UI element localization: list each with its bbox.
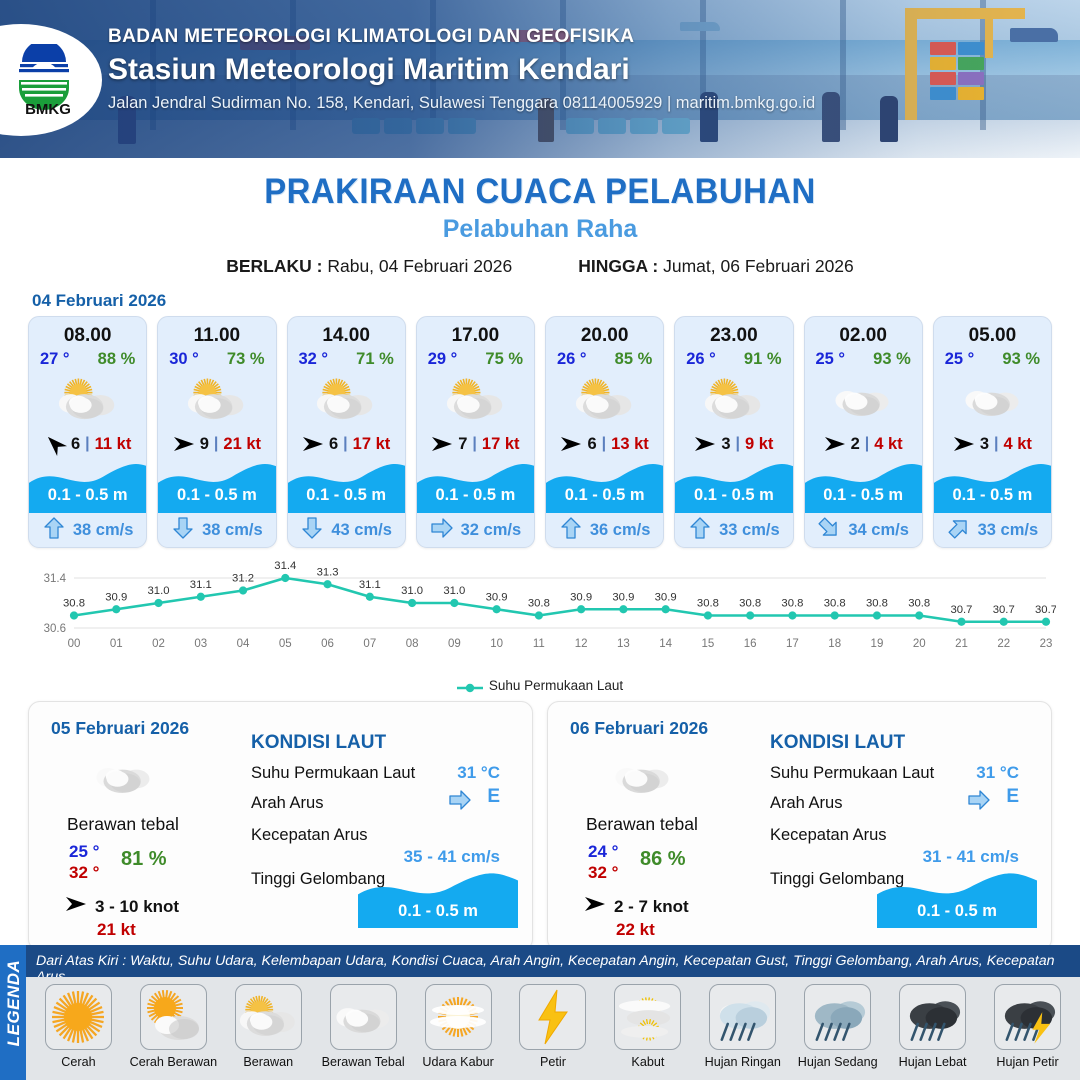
current-direction-icon xyxy=(967,788,991,817)
sea-condition-title: KONDISI LAUT xyxy=(770,732,905,754)
daily-wave-value: 0.1 - 0.5 m xyxy=(358,902,518,921)
title-block: PRAKIRAAN CUACA PELABUHAN Pelabuhan Raha… xyxy=(0,172,1080,277)
svg-text:30.8: 30.8 xyxy=(63,598,85,610)
sun-behind-cloud-icon xyxy=(235,984,302,1050)
legend-item-label: Berawan Tebal xyxy=(322,1055,405,1069)
daily-wave-value: 0.1 - 0.5 m xyxy=(877,902,1037,921)
moderate-rain-icon xyxy=(804,984,871,1050)
wave-band: 0.1 - 0.5 m xyxy=(358,870,518,928)
svg-text:18: 18 xyxy=(828,638,841,650)
current-speed: 32 cm/s xyxy=(461,521,522,540)
wind-direction-icon xyxy=(431,434,453,454)
wind-separator: | xyxy=(214,435,218,453)
svg-text:16: 16 xyxy=(744,638,757,650)
svg-text:30.9: 30.9 xyxy=(105,591,127,603)
legend-label: Suhu Permukaan Laut xyxy=(489,678,623,693)
legend-item-label: Cerah xyxy=(61,1055,95,1069)
legend-item-label: Hujan Lebat xyxy=(899,1055,967,1069)
current-direction-icon xyxy=(300,516,324,545)
wave-height: 0.1 - 0.5 m xyxy=(29,486,146,505)
current-direction-icon xyxy=(430,516,454,545)
wind-direction-icon xyxy=(824,434,846,454)
daily-humidity: 86 % xyxy=(640,848,686,871)
svg-text:19: 19 xyxy=(871,638,884,650)
legend-item: Udara Kabur xyxy=(412,984,505,1069)
daily-gust: 22 kt xyxy=(616,920,655,940)
svg-text:31.4: 31.4 xyxy=(274,560,296,572)
hourly-card: 08.00 27 ° 88 % 6 | 11 kt xyxy=(28,316,147,548)
current-direction-icon xyxy=(947,516,971,545)
daily-humidity: 81 % xyxy=(121,848,167,871)
svg-text:17: 17 xyxy=(786,638,799,650)
legend-item: Petir xyxy=(507,984,600,1069)
hourly-date-label: 04 Februari 2026 xyxy=(32,291,1080,311)
svg-text:14: 14 xyxy=(659,638,672,650)
lightning-icon xyxy=(519,984,586,1050)
wave-band: 0.1 - 0.5 m xyxy=(288,461,405,513)
sst-label: Suhu Permukaan Laut xyxy=(770,764,934,783)
hourly-card: 02.00 25 ° 93 % 2 | 4 kt 0.1 - 0.5 m xyxy=(804,316,923,548)
bmkg-logo-icon: BMKG xyxy=(14,44,82,116)
svg-text:30.9: 30.9 xyxy=(612,591,634,603)
wave-height: 0.1 - 0.5 m xyxy=(546,486,663,505)
card-humidity: 93 % xyxy=(873,350,911,369)
legend-item: Cerah xyxy=(32,984,125,1069)
daily-wind: 2 - 7 knot xyxy=(584,894,689,919)
current-direction-icon xyxy=(171,516,195,545)
current-direction-icon xyxy=(559,516,583,545)
page-title: PRAKIRAAN CUACA PELABUHAN xyxy=(32,172,1047,212)
legend-item-label: Petir xyxy=(540,1055,566,1069)
wind-direction-icon xyxy=(694,434,716,454)
svg-text:09: 09 xyxy=(448,638,461,650)
svg-text:04: 04 xyxy=(237,638,250,650)
svg-text:31.0: 31.0 xyxy=(443,585,465,597)
wind-direction-icon xyxy=(584,894,606,919)
bmkg-logo: BMKG xyxy=(8,34,88,126)
sea-condition-title: KONDISI LAUT xyxy=(251,732,386,754)
wave-height: 0.1 - 0.5 m xyxy=(805,486,922,505)
card-time: 14.00 xyxy=(288,317,405,347)
wave-height: 0.1 - 0.5 m xyxy=(417,486,534,505)
sst-value: 31 °C xyxy=(457,763,500,783)
hourly-card: 11.00 30 ° 73 % 9 | 21 kt xyxy=(157,316,276,548)
current-direction-value: E xyxy=(487,786,500,808)
sun-icon xyxy=(45,984,112,1050)
daily-wind: 3 - 10 knot xyxy=(65,894,179,919)
svg-text:01: 01 xyxy=(110,638,123,650)
validity-row: BERLAKU : Rabu, 04 Februari 2026 HINGGA … xyxy=(0,256,1080,277)
legend-item-label: Cerah Berawan xyxy=(130,1055,218,1069)
card-humidity: 91 % xyxy=(744,350,782,369)
wind-separator: | xyxy=(994,435,998,453)
card-humidity: 88 % xyxy=(98,350,136,369)
svg-text:31.0: 31.0 xyxy=(401,585,423,597)
wave-band: 0.1 - 0.5 m xyxy=(934,461,1051,513)
legend-item: Hujan Ringan xyxy=(696,984,789,1069)
gust-speed: 21 kt xyxy=(223,435,261,454)
svg-text:31.0: 31.0 xyxy=(148,585,170,597)
sun-behind-cloud-icon xyxy=(546,371,663,429)
svg-text:31.4: 31.4 xyxy=(44,573,67,585)
daily-temp-min: 24 ° xyxy=(588,842,618,862)
current-speed: 34 cm/s xyxy=(848,521,909,540)
card-humidity: 75 % xyxy=(485,350,523,369)
legend-item: Hujan Sedang xyxy=(791,984,884,1069)
legend-item-list: Cerah Cerah Berawan Berawan xyxy=(26,977,1080,1080)
legend-sidebar: LEGENDA xyxy=(0,945,26,1080)
wind-speed: 3 xyxy=(980,435,989,454)
svg-text:07: 07 xyxy=(363,638,376,650)
wind-speed: 9 xyxy=(200,435,209,454)
card-temperature: 30 ° xyxy=(169,350,199,369)
wind-direction-icon xyxy=(560,434,582,454)
svg-text:BMKG: BMKG xyxy=(25,101,71,116)
svg-text:22: 22 xyxy=(997,638,1010,650)
svg-text:30.9: 30.9 xyxy=(486,591,508,603)
wind-speed: 6 xyxy=(71,435,80,454)
card-temperature: 25 ° xyxy=(816,350,846,369)
daily-condition: Berawan tebal xyxy=(586,814,698,835)
card-humidity: 93 % xyxy=(1002,350,1040,369)
card-humidity: 85 % xyxy=(615,350,653,369)
wind-direction-icon xyxy=(173,434,195,454)
svg-text:30.8: 30.8 xyxy=(739,598,761,610)
gust-speed: 4 kt xyxy=(1003,435,1031,454)
sun-behind-cloud-icon xyxy=(417,371,534,429)
port-name: Pelabuhan Raha xyxy=(0,215,1080,244)
svg-text:13: 13 xyxy=(617,638,630,650)
card-temperature: 29 ° xyxy=(428,350,458,369)
card-temperature: 25 ° xyxy=(945,350,975,369)
station-address: Jalan Jendral Sudirman No. 158, Kendari,… xyxy=(108,94,815,113)
daily-gust: 21 kt xyxy=(97,920,136,940)
daily-panel: 05 Februari 2026 Berawan tebal 25 ° 32 °… xyxy=(28,701,533,951)
hourly-card: 14.00 32 ° 71 % 6 | 17 kt xyxy=(287,316,406,548)
svg-text:08: 08 xyxy=(406,638,419,650)
current-speed: 36 cm/s xyxy=(590,521,651,540)
legend-item: Cerah Berawan xyxy=(127,984,220,1069)
wind-direction-icon xyxy=(65,894,87,919)
card-humidity: 73 % xyxy=(227,350,265,369)
legend-item: Hujan Petir xyxy=(981,984,1074,1069)
card-time: 17.00 xyxy=(417,317,534,347)
svg-text:31.1: 31.1 xyxy=(359,579,381,591)
sun-behind-small-cloud-icon xyxy=(140,984,207,1050)
page-header: BMKG BADAN METEOROLOGI KLIMATOLOGI DAN G… xyxy=(0,0,1080,158)
wind-speed: 6 xyxy=(587,435,596,454)
card-temperature: 32 ° xyxy=(299,350,329,369)
svg-text:12: 12 xyxy=(575,638,588,650)
cloud-icon xyxy=(805,371,922,429)
legend-item: Kabut xyxy=(601,984,694,1069)
fog-icon xyxy=(614,984,681,1050)
sst-chart: 31.4 30.630.80030.90131.00231.10331.2043… xyxy=(24,556,1056,676)
berlaku: BERLAKU : Rabu, 04 Februari 2026 xyxy=(226,256,512,277)
wind-direction-icon xyxy=(44,434,66,454)
hourly-card: 20.00 26 ° 85 % 6 | 13 kt xyxy=(545,316,664,548)
svg-text:30.6: 30.6 xyxy=(44,623,66,635)
hingga-value: Jumat, 06 Februari 2026 xyxy=(663,256,854,276)
wave-band: 0.1 - 0.5 m xyxy=(417,461,534,513)
wind-direction-icon xyxy=(953,434,975,454)
svg-text:20: 20 xyxy=(913,638,926,650)
svg-text:30.8: 30.8 xyxy=(781,598,803,610)
cloud-icon xyxy=(330,984,397,1050)
svg-text:00: 00 xyxy=(68,638,81,650)
wave-band: 0.1 - 0.5 m xyxy=(158,461,275,513)
card-humidity: 71 % xyxy=(356,350,394,369)
hourly-card: 05.00 25 ° 93 % 3 | 4 kt 0.1 - 0.5 m xyxy=(933,316,1052,548)
wind-direction-icon xyxy=(302,434,324,454)
current-direction-icon xyxy=(817,516,841,545)
svg-text:02: 02 xyxy=(152,638,165,650)
agency-name: BADAN METEOROLOGI KLIMATOLOGI DAN GEOFIS… xyxy=(108,26,815,48)
card-time: 08.00 xyxy=(29,317,146,347)
legend-section: LEGENDA Dari Atas Kiri : Waktu, Suhu Uda… xyxy=(0,945,1080,1080)
legend-item-label: Hujan Ringan xyxy=(705,1055,781,1069)
gust-speed: 11 kt xyxy=(95,435,132,454)
gust-speed: 9 kt xyxy=(745,435,773,454)
card-temperature: 27 ° xyxy=(40,350,70,369)
svg-text:15: 15 xyxy=(702,638,715,650)
daily-temp-max: 32 ° xyxy=(69,863,99,883)
daily-panel: 06 Februari 2026 Berawan tebal 24 ° 32 °… xyxy=(547,701,1052,951)
cloud-icon xyxy=(610,754,676,804)
sun-behind-cloud-icon xyxy=(288,371,405,429)
card-temperature: 26 ° xyxy=(557,350,587,369)
hourly-card: 17.00 29 ° 75 % 7 | 17 kt xyxy=(416,316,535,548)
station-name: Stasiun Meteorologi Maritim Kendari xyxy=(108,53,815,87)
svg-text:10: 10 xyxy=(490,638,503,650)
current-speed: 43 cm/s xyxy=(331,521,392,540)
wind-speed: 2 xyxy=(851,435,860,454)
berlaku-value: Rabu, 04 Februari 2026 xyxy=(327,256,512,276)
gust-speed: 17 kt xyxy=(353,435,391,454)
wind-separator: | xyxy=(472,435,476,453)
svg-text:05: 05 xyxy=(279,638,292,650)
svg-text:30.8: 30.8 xyxy=(824,598,846,610)
wind-separator: | xyxy=(85,435,89,453)
cloud-icon xyxy=(91,754,157,804)
svg-text:21: 21 xyxy=(955,638,968,650)
haze-icon xyxy=(425,984,492,1050)
current-speed-value: 31 - 41 cm/s xyxy=(923,847,1019,867)
wind-speed: 7 xyxy=(458,435,467,454)
legend-item-label: Udara Kabur xyxy=(422,1055,493,1069)
gust-speed: 4 kt xyxy=(874,435,902,454)
gust-speed: 13 kt xyxy=(611,435,649,454)
wave-band: 0.1 - 0.5 m xyxy=(877,870,1037,928)
gust-speed: 17 kt xyxy=(482,435,520,454)
svg-text:31.2: 31.2 xyxy=(232,573,254,585)
legend-item: Hujan Lebat xyxy=(886,984,979,1069)
svg-text:30.7: 30.7 xyxy=(950,604,972,616)
svg-text:31.1: 31.1 xyxy=(190,579,212,591)
svg-text:30.9: 30.9 xyxy=(570,591,592,603)
svg-text:11: 11 xyxy=(533,638,545,650)
daily-wind-speed: 2 - 7 knot xyxy=(614,897,689,917)
legend-item-label: Hujan Petir xyxy=(996,1055,1058,1069)
svg-text:30.9: 30.9 xyxy=(655,591,677,603)
daily-date: 05 Februari 2026 xyxy=(51,718,189,739)
wave-height: 0.1 - 0.5 m xyxy=(158,486,275,505)
svg-text:30.8: 30.8 xyxy=(697,598,719,610)
svg-text:30.8: 30.8 xyxy=(528,598,550,610)
wind-separator: | xyxy=(736,435,740,453)
sun-behind-cloud-icon xyxy=(675,371,792,429)
daily-forecast-panels: 05 Februari 2026 Berawan tebal 25 ° 32 °… xyxy=(0,693,1080,951)
svg-text:30.7: 30.7 xyxy=(993,604,1015,616)
daily-wind-speed: 3 - 10 knot xyxy=(95,897,179,917)
svg-text:31.3: 31.3 xyxy=(317,566,339,578)
wave-band: 0.1 - 0.5 m xyxy=(29,461,146,513)
current-speed: 33 cm/s xyxy=(978,521,1039,540)
svg-text:23: 23 xyxy=(1040,638,1053,650)
wave-height: 0.1 - 0.5 m xyxy=(288,486,405,505)
hourly-card: 23.00 26 ° 91 % 3 | 9 kt 0 xyxy=(674,316,793,548)
sun-behind-cloud-icon xyxy=(158,371,275,429)
hourly-forecast-cards: 08.00 27 ° 88 % 6 | 11 kt xyxy=(0,316,1080,548)
current-speed-label: Kecepatan Arus xyxy=(251,826,368,845)
card-temperature: 26 ° xyxy=(686,350,716,369)
wind-separator: | xyxy=(602,435,606,453)
card-time: 05.00 xyxy=(934,317,1051,347)
heavy-rain-icon xyxy=(899,984,966,1050)
current-speed-value: 35 - 41 cm/s xyxy=(404,847,500,867)
legend-marker xyxy=(457,681,483,691)
current-speed: 38 cm/s xyxy=(202,521,263,540)
sst-value: 31 °C xyxy=(976,763,1019,783)
card-time: 11.00 xyxy=(158,317,275,347)
light-rain-icon xyxy=(709,984,776,1050)
svg-text:30.8: 30.8 xyxy=(908,598,930,610)
wave-band: 0.1 - 0.5 m xyxy=(546,461,663,513)
daily-date: 06 Februari 2026 xyxy=(570,718,708,739)
wave-band: 0.1 - 0.5 m xyxy=(805,461,922,513)
legend-item: Berawan Tebal xyxy=(317,984,410,1069)
legend-item: Berawan xyxy=(222,984,315,1069)
svg-text:30.8: 30.8 xyxy=(866,598,888,610)
hingga: HINGGA : Jumat, 06 Februari 2026 xyxy=(578,256,854,277)
svg-text:30.7: 30.7 xyxy=(1035,604,1056,616)
current-direction-value: E xyxy=(1006,786,1019,808)
daily-temp-max: 32 ° xyxy=(588,863,618,883)
legend-item-label: Kabut xyxy=(631,1055,664,1069)
legend-item-label: Hujan Sedang xyxy=(798,1055,878,1069)
current-speed: 38 cm/s xyxy=(73,521,134,540)
wave-height: 0.1 - 0.5 m xyxy=(675,486,792,505)
sun-behind-cloud-icon xyxy=(29,371,146,429)
wind-speed: 6 xyxy=(329,435,338,454)
current-direction-icon xyxy=(448,788,472,817)
legend-item-label: Berawan xyxy=(243,1055,293,1069)
hingga-label: HINGGA : xyxy=(578,256,658,276)
current-direction-label: Arah Arus xyxy=(251,794,323,813)
thunderstorm-rain-icon xyxy=(994,984,1061,1050)
wind-separator: | xyxy=(343,435,347,453)
svg-text:06: 06 xyxy=(321,638,334,650)
cloud-icon xyxy=(934,371,1051,429)
chart-legend: Suhu Permukaan Laut xyxy=(0,678,1080,693)
berlaku-label: BERLAKU : xyxy=(226,256,322,276)
current-speed-label: Kecepatan Arus xyxy=(770,826,887,845)
wind-separator: | xyxy=(865,435,869,453)
legend-sidebar-label: LEGENDA xyxy=(4,951,24,1055)
sst-label: Suhu Permukaan Laut xyxy=(251,764,415,783)
current-direction-icon xyxy=(688,516,712,545)
svg-text:03: 03 xyxy=(194,638,207,650)
daily-temp-min: 25 ° xyxy=(69,842,99,862)
card-time: 23.00 xyxy=(675,317,792,347)
current-direction-icon xyxy=(42,516,66,545)
wind-speed: 3 xyxy=(721,435,730,454)
current-direction-label: Arah Arus xyxy=(770,794,842,813)
current-speed: 33 cm/s xyxy=(719,521,780,540)
card-time: 20.00 xyxy=(546,317,663,347)
card-time: 02.00 xyxy=(805,317,922,347)
wave-height: 0.1 - 0.5 m xyxy=(934,486,1051,505)
daily-condition: Berawan tebal xyxy=(67,814,179,835)
wave-band: 0.1 - 0.5 m xyxy=(675,461,792,513)
